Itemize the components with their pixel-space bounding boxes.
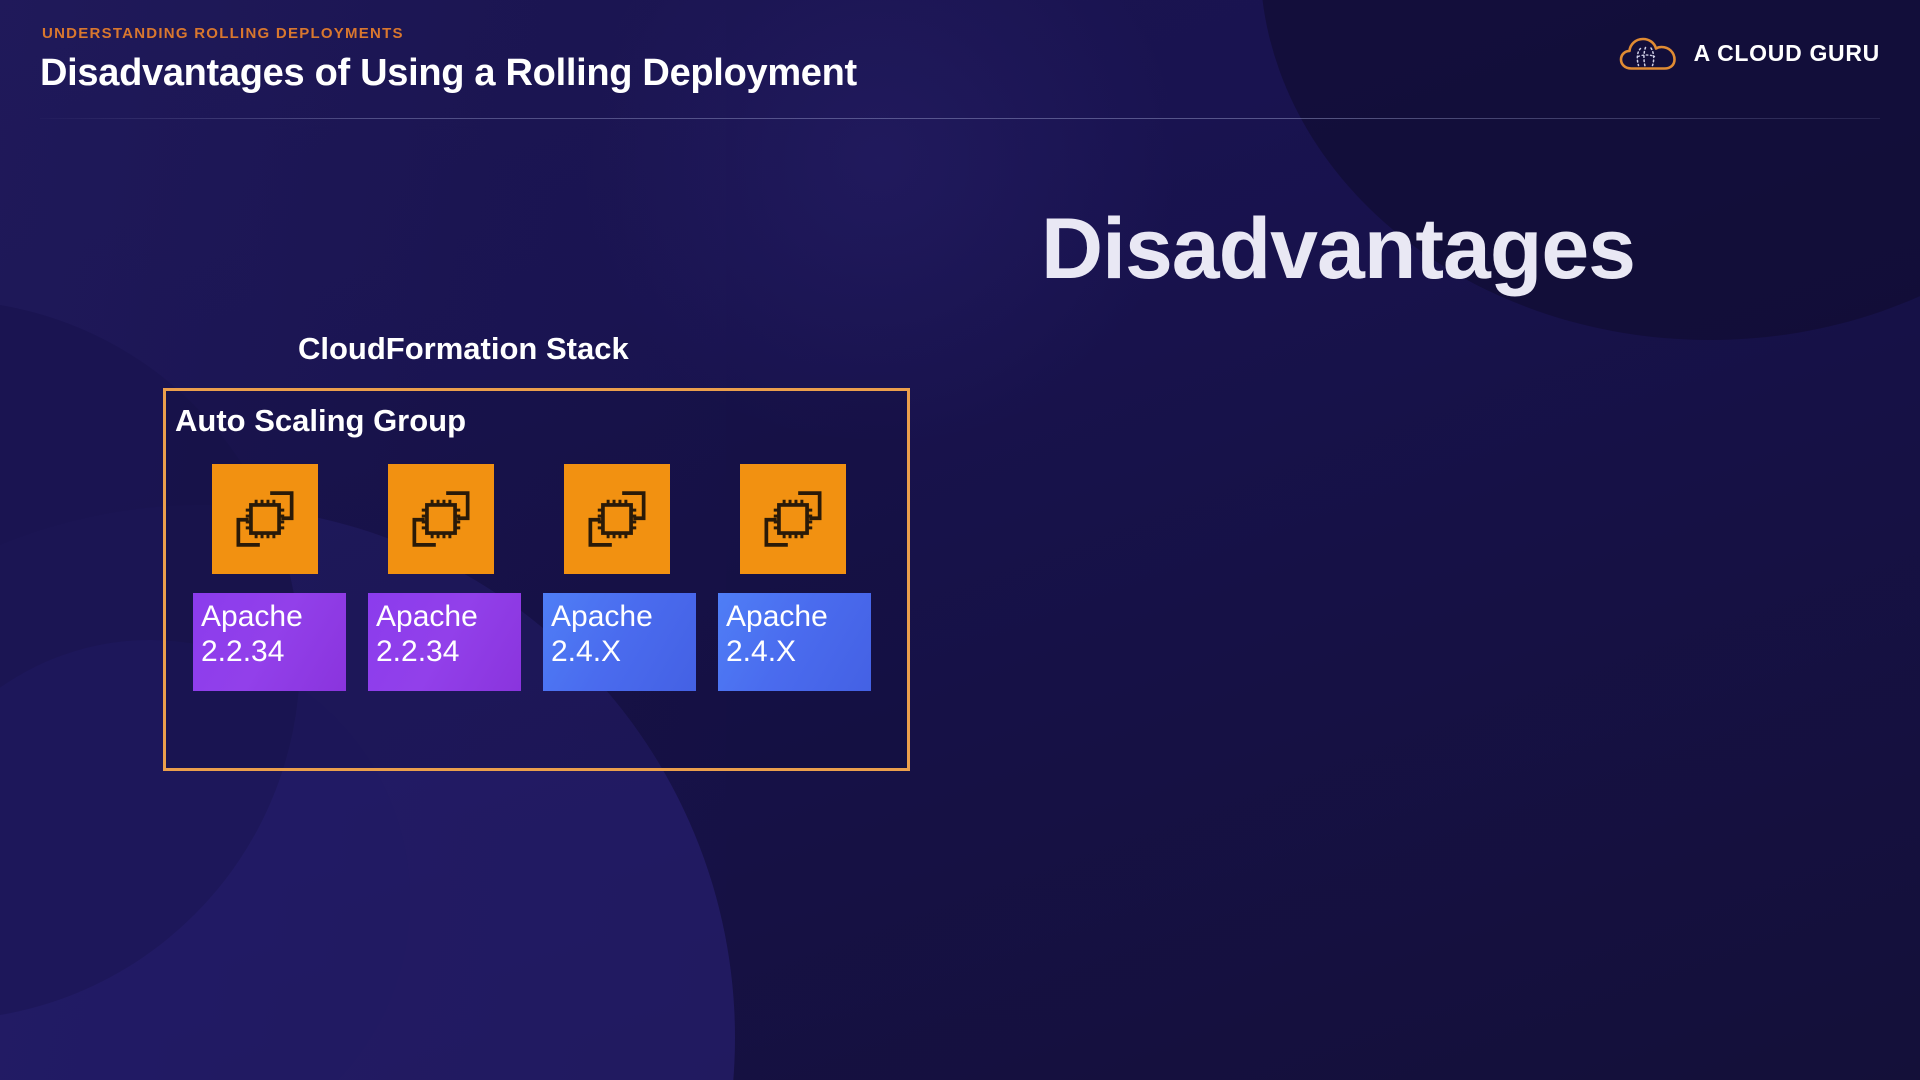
apache-version-tile: Apache 2.2.34 bbox=[368, 593, 521, 691]
ec2-instance-tile bbox=[388, 464, 494, 574]
apache-name: Apache bbox=[726, 599, 863, 634]
apache-version-tile: Apache 2.4.X bbox=[543, 593, 696, 691]
apache-version: 2.4.X bbox=[726, 634, 863, 669]
apache-version-tile: Apache 2.2.34 bbox=[193, 593, 346, 691]
ec2-instance-tile bbox=[564, 464, 670, 574]
apache-version: 2.2.34 bbox=[201, 634, 338, 669]
page-title: Disadvantages of Using a Rolling Deploym… bbox=[40, 52, 857, 95]
ec2-instance-row bbox=[212, 464, 846, 574]
eyebrow-label: UNDERSTANDING ROLLING DEPLOYMENTS bbox=[42, 25, 404, 42]
header-divider bbox=[40, 118, 1880, 119]
ec2-instance-tile bbox=[740, 464, 846, 574]
apache-version-row: Apache 2.2.34 Apache 2.2.34 Apache 2.4.X… bbox=[193, 593, 871, 691]
brand-name: A CLOUD GURU bbox=[1694, 40, 1880, 67]
cloudformation-stack-label: CloudFormation Stack bbox=[298, 331, 629, 367]
slide-canvas: UNDERSTANDING ROLLING DEPLOYMENTS Disadv… bbox=[0, 0, 1920, 1080]
apache-name: Apache bbox=[551, 599, 688, 634]
apache-version: 2.4.X bbox=[551, 634, 688, 669]
apache-version-tile: Apache 2.4.X bbox=[718, 593, 871, 691]
brand-logo: A CLOUD GURU bbox=[1618, 32, 1880, 74]
auto-scaling-group-label: Auto Scaling Group bbox=[175, 403, 466, 439]
ec2-instance-icon bbox=[228, 482, 302, 556]
ec2-instance-icon bbox=[756, 482, 830, 556]
auto-scaling-group-box: Auto Scaling Group bbox=[163, 388, 910, 771]
apache-version: 2.2.34 bbox=[376, 634, 513, 669]
cloud-outline-icon bbox=[1618, 32, 1678, 74]
apache-name: Apache bbox=[201, 599, 338, 634]
main-heading: Disadvantages bbox=[968, 200, 1708, 299]
apache-name: Apache bbox=[376, 599, 513, 634]
ec2-instance-icon bbox=[580, 482, 654, 556]
slide-header: UNDERSTANDING ROLLING DEPLOYMENTS Disadv… bbox=[0, 0, 1920, 120]
ec2-instance-icon bbox=[404, 482, 478, 556]
ec2-instance-tile bbox=[212, 464, 318, 574]
